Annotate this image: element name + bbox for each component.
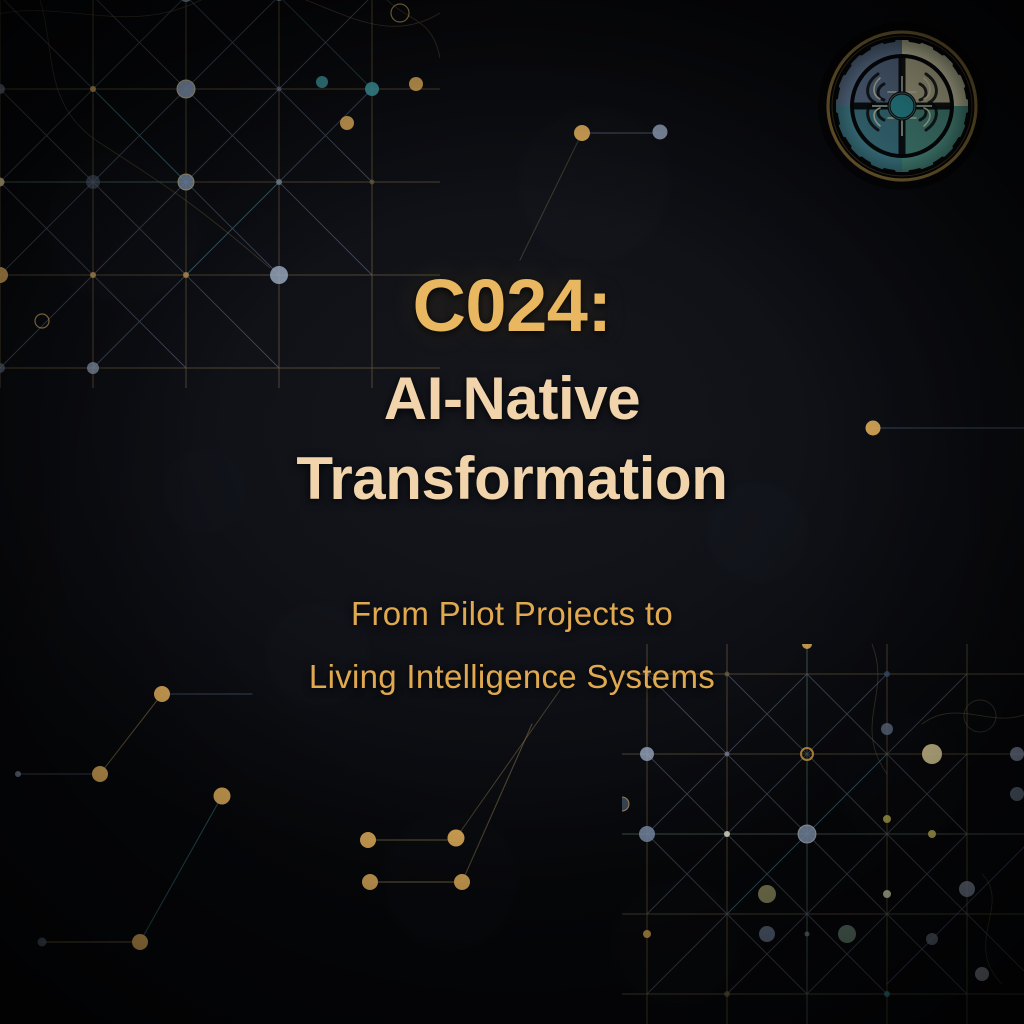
slide-title-line-1: AI-Native <box>0 359 1024 439</box>
slide-code: C024: <box>0 268 1024 345</box>
slide-subtitle: From Pilot Projects to Living Intelligen… <box>0 582 1024 709</box>
slide-title: AI-Native Transformation <box>0 359 1024 520</box>
slide-subtitle-line-1: From Pilot Projects to <box>0 582 1024 645</box>
slide-text-block: C024: AI-Native Transformation From Pilo… <box>0 268 1024 708</box>
slide-title-line-2: Transformation <box>0 439 1024 519</box>
ai-cortex-gear-logo[interactable] <box>818 22 986 190</box>
title-slide: C024: AI-Native Transformation From Pilo… <box>0 0 1024 1024</box>
slide-subtitle-line-2: Living Intelligence Systems <box>0 645 1024 708</box>
